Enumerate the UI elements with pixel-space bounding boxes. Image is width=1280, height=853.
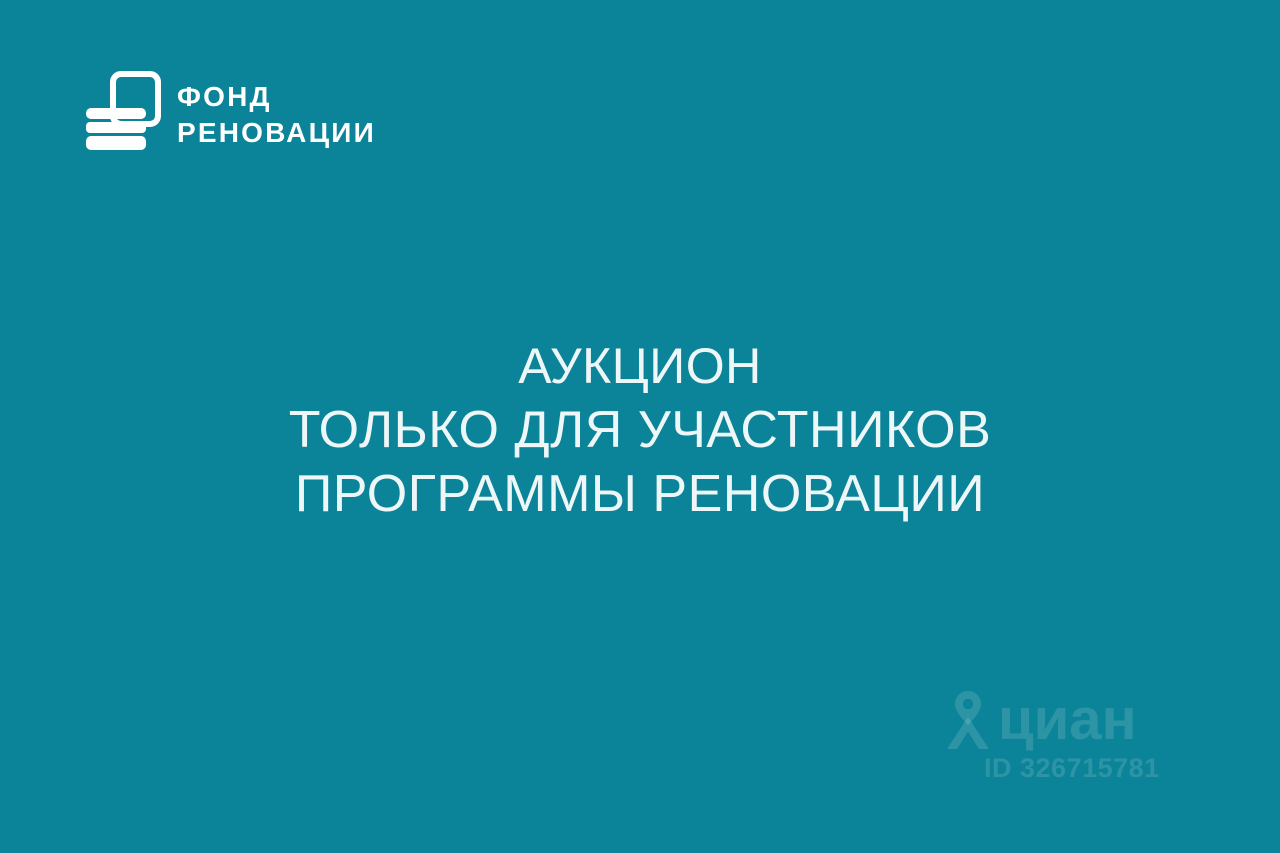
cian-watermark: циан ID 326715781 xyxy=(946,691,1176,791)
brand-wordmark: ФОНД РЕНОВАЦИИ xyxy=(177,70,376,151)
page-title: АУКЦИОН ТОЛЬКО ДЛЯ УЧАСТНИКОВ ПРОГРАММЫ … xyxy=(0,334,1280,526)
cian-watermark-row: циан xyxy=(946,691,1137,749)
auction-banner: ФОНД РЕНОВАЦИИ АУКЦИОН ТОЛЬКО ДЛЯ УЧАСТН… xyxy=(0,0,1280,853)
headline-line-3: ПРОГРАММЫ РЕНОВАЦИИ xyxy=(0,462,1280,526)
listing-id: ID 326715781 xyxy=(984,753,1160,783)
brand-logo: ФОНД РЕНОВАЦИИ xyxy=(84,70,376,154)
headline-line-2: ТОЛЬКО ДЛЯ УЧАСТНИКОВ xyxy=(0,398,1280,462)
brand-line-1: ФОНД xyxy=(177,79,376,115)
cian-wordmark: циан xyxy=(998,691,1137,749)
fond-renovatsii-stacked-cards-icon xyxy=(84,70,162,154)
cian-map-pin-icon xyxy=(946,691,990,749)
brand-line-2: РЕНОВАЦИИ xyxy=(177,115,376,151)
headline-line-1: АУКЦИОН xyxy=(0,334,1280,398)
